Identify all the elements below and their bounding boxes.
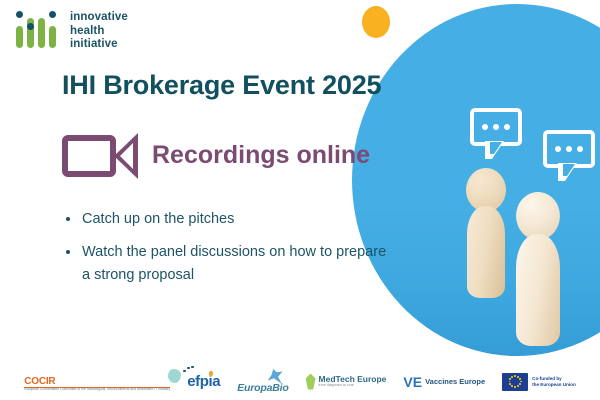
cocir-wordmark: COCIR	[24, 376, 170, 388]
video-camera-icon	[62, 131, 138, 179]
ihi-logo-text: innovative health initiative	[70, 8, 128, 52]
page-title: IHI Brokerage Event 2025	[62, 70, 381, 101]
speech-bubble-icon	[470, 108, 522, 146]
logo-bar	[16, 26, 23, 48]
logo-bar	[49, 26, 56, 48]
camera-lens	[114, 133, 138, 179]
partner-logo-vaccines-europe: VE Vaccines Europe	[403, 375, 485, 389]
partner-logos: COCIR European Coordination Committee of…	[0, 369, 600, 394]
bullet-list: Catch up on the pitches Watch the panel …	[66, 208, 396, 297]
figure-head	[516, 192, 560, 240]
partner-logo-eu-co-funded: Co-funded by the European Union	[502, 373, 576, 391]
eu-funding-line-2: the European Union	[532, 382, 576, 387]
list-item: Catch up on the pitches	[66, 208, 396, 230]
camera-body	[62, 135, 116, 177]
speech-bubble-tail	[485, 141, 504, 159]
speech-bubble-tail	[558, 163, 577, 181]
medtech-mark-icon	[306, 374, 316, 390]
subhead-label: Recordings online	[152, 141, 370, 170]
ihi-logo-mark	[14, 8, 62, 48]
partner-logo-cocir: COCIR European Coordination Committee of…	[24, 372, 170, 392]
logo-bar	[38, 18, 45, 48]
efpia-dot-icon	[209, 371, 214, 376]
figure-body	[516, 234, 560, 346]
subhead-row: Recordings online	[62, 131, 370, 179]
vaccines-europe-mark-icon: VE	[403, 375, 422, 389]
list-item: Watch the panel discussions on how to pr…	[66, 241, 396, 286]
partner-logo-efpia: efpia	[187, 373, 220, 390]
ihi-logo: innovative health initiative	[14, 8, 128, 52]
logo-text-line-3: initiative	[70, 38, 128, 52]
orange-circle-decoration	[362, 6, 390, 38]
logo-text-line-1: innovative	[70, 11, 128, 25]
logo-text-line-2: health	[70, 25, 128, 39]
eu-flag-icon	[502, 373, 528, 391]
eu-flag-stars	[502, 373, 528, 391]
vaccines-europe-wordmark: Vaccines Europe	[425, 377, 485, 386]
logo-dot	[16, 11, 23, 18]
speech-bubble-icon	[543, 130, 595, 168]
europabio-wordmark: EuropaBio	[237, 382, 288, 394]
speech-bubble-dots	[474, 124, 518, 130]
logo-dot	[49, 11, 56, 18]
banner-slide: innovative health initiative IHI Brokera…	[0, 0, 600, 400]
cocir-map-icon	[168, 369, 181, 383]
partner-logo-medtech-europe: MedTech Europe from diagnosis to cure	[306, 374, 387, 390]
partner-logo-europabio: EuropaBio	[237, 369, 288, 394]
efpia-wordmark: efpia	[187, 373, 220, 390]
wooden-peg-figure	[466, 168, 506, 298]
logo-dot	[27, 23, 34, 30]
speech-bubble-dots	[547, 146, 591, 152]
figure-body	[467, 206, 505, 298]
medtech-tagline: from diagnosis to cure	[319, 384, 387, 388]
cocir-tagline: European Coordination Committee of the R…	[24, 388, 170, 392]
wooden-peg-figure	[516, 192, 560, 346]
